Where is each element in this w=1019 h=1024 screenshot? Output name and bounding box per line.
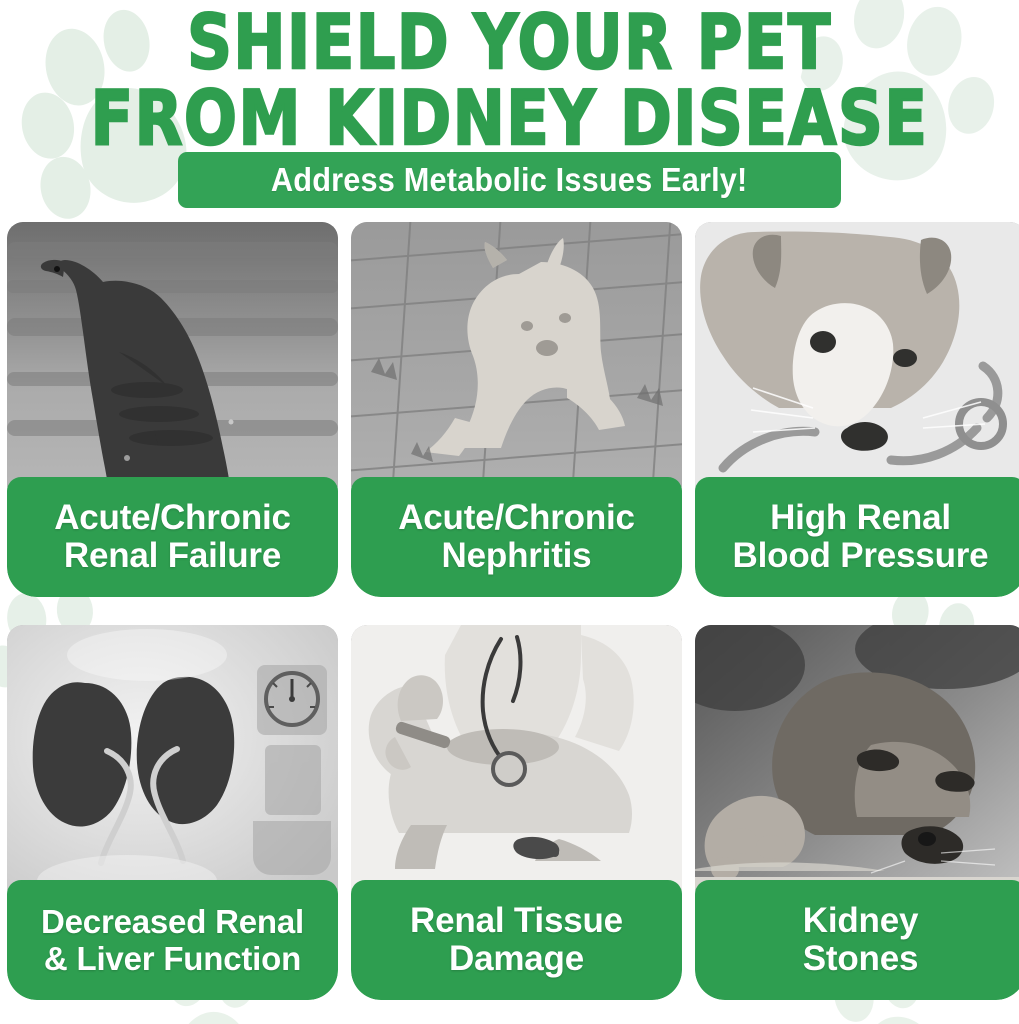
page-title-line-1: Shield Your Pet (0, 6, 1019, 82)
page-title: Shield Your Pet From Kidney Disease (0, 6, 1019, 157)
photo-shiba-with-stethoscope (695, 222, 1019, 500)
card-label-line-2: Stones (803, 939, 919, 978)
infographic-poster: Shield Your Pet From Kidney Disease Addr… (0, 0, 1019, 1024)
card-label-renal-tissue-damage: Renal Tissue Damage (351, 880, 682, 1000)
card-label-text: High Renal Blood Pressure (733, 499, 989, 575)
card-label-line-2: Renal Failure (64, 536, 281, 575)
condition-card-grid: Acute/Chronic Renal Failure (0, 222, 1019, 1012)
card-label-line-2: Damage (449, 939, 584, 978)
card-label-line-1: Acute/Chronic (398, 498, 635, 537)
card-label-high-renal-blood-pressure: High Renal Blood Pressure (695, 477, 1019, 597)
card-label-line-2: Nephritis (442, 536, 592, 575)
card-label-line-1: Acute/Chronic (54, 498, 291, 537)
card-label-text: Acute/Chronic Renal Failure (54, 499, 291, 575)
photo-kidneys-anatomy (7, 625, 338, 903)
photo-dog-scratching (351, 222, 682, 500)
subtitle-text: Address Metabolic Issues Early! (271, 163, 748, 197)
card-label-acute-chronic-nephritis: Acute/Chronic Nephritis (351, 477, 682, 597)
subtitle-banner: Address Metabolic Issues Early! (178, 152, 841, 208)
card-label-line-1: High Renal (770, 498, 951, 537)
card-label-line-2: & Liver Function (44, 940, 301, 977)
photo-emaciated-dog (7, 222, 338, 500)
card-label-text: Decreased Renal & Liver Function (41, 903, 304, 977)
card-label-text: Renal Tissue Damage (410, 902, 623, 978)
condition-card-acute-chronic-nephritis: Acute/Chronic Nephritis (351, 222, 682, 597)
condition-card-renal-tissue-damage: Renal Tissue Damage (351, 625, 682, 1000)
condition-card-kidney-stones: Kidney Stones (695, 625, 1019, 1000)
card-label-text: Kidney Stones (803, 902, 919, 978)
page-title-line-2: From Kidney Disease (0, 82, 1019, 158)
photo-resting-dog (695, 625, 1019, 903)
card-label-line-2: Blood Pressure (733, 536, 989, 575)
photo-vet-examining-dog (351, 625, 682, 903)
card-label-line-1: Renal Tissue (410, 901, 623, 940)
poster-header: Shield Your Pet From Kidney Disease Addr… (0, 0, 1019, 215)
card-label-line-1: Kidney (803, 901, 919, 940)
card-label-text: Acute/Chronic Nephritis (398, 499, 635, 575)
condition-card-acute-chronic-renal-failure: Acute/Chronic Renal Failure (7, 222, 338, 597)
card-label-line-1: Decreased Renal (41, 903, 304, 940)
condition-card-decreased-renal-liver-function: Decreased Renal & Liver Function (7, 625, 338, 1000)
card-label-decreased-renal-liver-function: Decreased Renal & Liver Function (7, 880, 338, 1000)
card-label-kidney-stones: Kidney Stones (695, 880, 1019, 1000)
card-label-acute-chronic-renal-failure: Acute/Chronic Renal Failure (7, 477, 338, 597)
condition-card-high-renal-blood-pressure: High Renal Blood Pressure (695, 222, 1019, 597)
